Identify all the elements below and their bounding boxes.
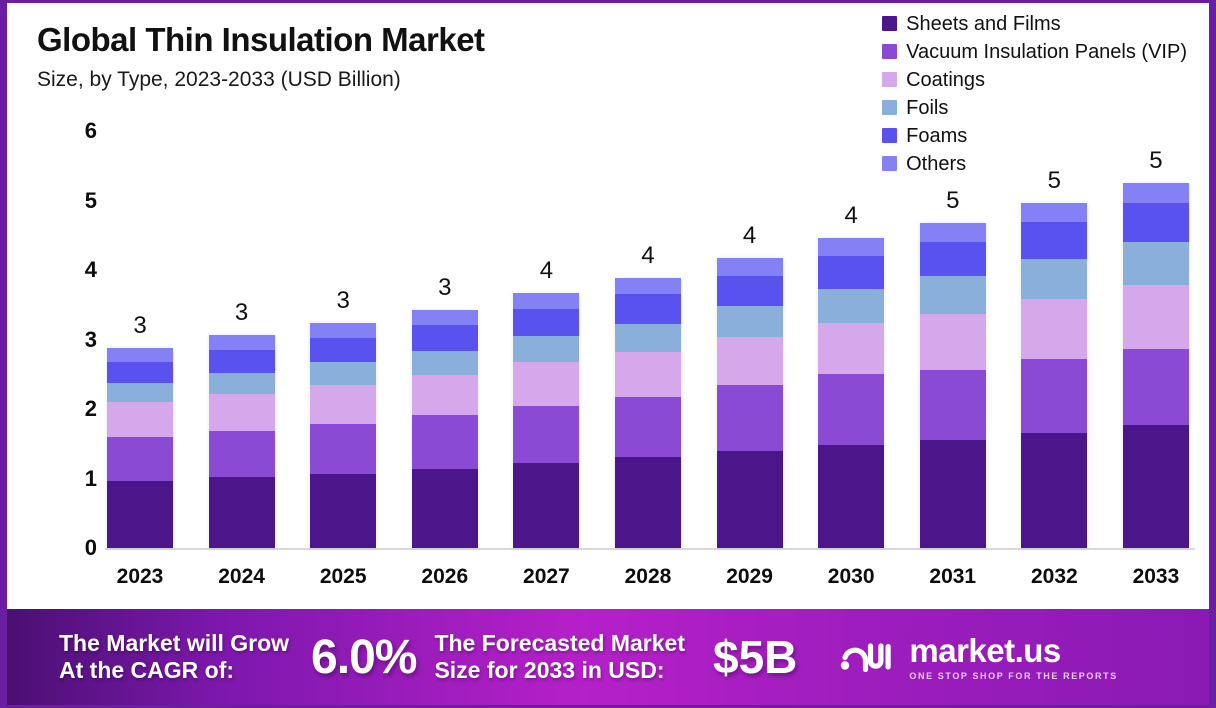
footer-banner: The Market will Grow At the CAGR of: 6.0…: [7, 609, 1209, 705]
bar-segment[interactable]: [1123, 425, 1189, 548]
bar-segment[interactable]: [1123, 349, 1189, 425]
forecast-label-line2: Size for 2033 in USD:: [434, 657, 685, 684]
y-axis-tick-label: 0: [59, 535, 97, 561]
bar-segment[interactable]: [1021, 259, 1087, 299]
bar-segment[interactable]: [513, 362, 579, 405]
bar-value-label: 4: [513, 259, 579, 283]
bar-group[interactable]: 3: [412, 123, 478, 548]
bar-segment[interactable]: [1021, 433, 1087, 548]
cagr-label: The Market will Grow At the CAGR of:: [59, 630, 289, 683]
bar-segment[interactable]: [412, 325, 478, 351]
bar-segment[interactable]: [107, 383, 173, 402]
bar-group[interactable]: 4: [513, 123, 579, 548]
stacked-bar[interactable]: [209, 335, 275, 548]
bar-segment[interactable]: [513, 463, 579, 548]
bar-segment[interactable]: [615, 294, 681, 323]
bar-segment[interactable]: [920, 440, 986, 548]
bar-segment[interactable]: [615, 324, 681, 352]
bar-segment[interactable]: [107, 437, 173, 481]
bar-segment[interactable]: [717, 258, 783, 275]
x-axis-label: 2033: [1123, 565, 1189, 595]
bar-segment[interactable]: [1123, 285, 1189, 348]
bar-segment[interactable]: [412, 310, 478, 325]
stacked-bar[interactable]: [107, 348, 173, 548]
bar-segment[interactable]: [310, 323, 376, 338]
bar-segment[interactable]: [513, 309, 579, 336]
bar-value-label: 3: [209, 301, 275, 325]
x-axis-label: 2027: [513, 565, 579, 595]
x-axis-baseline: [105, 548, 1195, 550]
bar-value-label: 4: [615, 244, 681, 268]
bar-segment[interactable]: [615, 397, 681, 457]
bar-group[interactable]: 5: [1123, 123, 1189, 548]
y-axis-tick-label: 2: [59, 396, 97, 422]
bar-segment[interactable]: [818, 238, 884, 256]
bar-segment[interactable]: [209, 335, 275, 350]
bar-segment[interactable]: [818, 323, 884, 374]
bar-segment[interactable]: [209, 394, 275, 431]
bar-group[interactable]: 4: [717, 123, 783, 548]
bar-value-label: 3: [107, 314, 173, 338]
bar-segment[interactable]: [412, 469, 478, 548]
stacked-bar[interactable]: [1123, 183, 1189, 548]
y-axis-tick-label: 4: [59, 257, 97, 283]
stacked-bar[interactable]: [717, 258, 783, 548]
bar-segment[interactable]: [1123, 242, 1189, 285]
bar-segment[interactable]: [209, 350, 275, 373]
bar-segment[interactable]: [513, 336, 579, 362]
brand-tagline: ONE STOP SHOP FOR THE REPORTS: [909, 671, 1117, 681]
bar-segment[interactable]: [209, 431, 275, 478]
infographic-root: Global Thin Insulation Market Size, by T…: [0, 0, 1216, 708]
brand-text: market.us ONE STOP SHOP FOR THE REPORTS: [909, 634, 1117, 681]
bar-segment[interactable]: [920, 370, 986, 440]
x-axis-label: 2030: [818, 565, 884, 595]
bar-segment[interactable]: [818, 256, 884, 289]
stacked-bar[interactable]: [920, 223, 986, 548]
bar-group[interactable]: 4: [615, 123, 681, 548]
bar-segment[interactable]: [310, 424, 376, 475]
forecast-label: The Forecasted Market Size for 2033 in U…: [434, 630, 685, 683]
bar-value-label: 5: [1123, 149, 1189, 173]
bar-segment[interactable]: [107, 402, 173, 437]
stacked-bar[interactable]: [818, 238, 884, 548]
bar-segment[interactable]: [310, 338, 376, 362]
x-axis-labels: 2023202420252026202720282029203020312032…: [107, 565, 1189, 595]
bar-value-label: 4: [818, 204, 884, 228]
bar-segment[interactable]: [1021, 299, 1087, 359]
bar-segment[interactable]: [920, 314, 986, 370]
bar-segment[interactable]: [107, 362, 173, 383]
bar-segment[interactable]: [107, 481, 173, 548]
stacked-bar[interactable]: [615, 278, 681, 548]
bar-segment[interactable]: [412, 375, 478, 415]
bar-value-label: 5: [920, 189, 986, 213]
bar-segment[interactable]: [209, 373, 275, 394]
x-axis-label: 2031: [920, 565, 986, 595]
y-axis-tick-label: 3: [59, 327, 97, 353]
bar-segment[interactable]: [818, 289, 884, 323]
bar-group[interactable]: 3: [209, 123, 275, 548]
cagr-value: 6.0%: [311, 630, 416, 685]
y-axis-tick-label: 6: [59, 118, 97, 144]
bar-segment[interactable]: [310, 474, 376, 548]
bar-segment[interactable]: [717, 451, 783, 548]
bar-segment[interactable]: [1021, 222, 1087, 259]
x-axis-label: 2026: [412, 565, 478, 595]
bar-segment[interactable]: [717, 306, 783, 337]
bar-segment[interactable]: [818, 374, 884, 445]
y-axis: 0123456: [59, 115, 97, 555]
x-axis-label: 2023: [107, 565, 173, 595]
bar-segment[interactable]: [717, 385, 783, 450]
brand-logo[interactable]: market.us ONE STOP SHOP FOR THE REPORTS: [839, 634, 1117, 681]
stacked-bar[interactable]: [1021, 203, 1087, 548]
bar-value-label: 5: [1021, 169, 1087, 193]
bar-segment[interactable]: [513, 293, 579, 309]
forecast-label-line1: The Forecasted Market: [434, 630, 685, 657]
y-axis-tick-label: 5: [59, 188, 97, 214]
bar-segment[interactable]: [513, 406, 579, 464]
bar-segment[interactable]: [717, 276, 783, 307]
market-us-logo-icon: [839, 638, 897, 677]
bar-segment[interactable]: [412, 415, 478, 469]
bar-value-label: 3: [310, 289, 376, 313]
bar-value-label: 4: [717, 224, 783, 248]
x-axis-label: 2029: [717, 565, 783, 595]
forecast-value: $5B: [713, 630, 797, 684]
bar-segment[interactable]: [920, 242, 986, 277]
x-axis-label: 2028: [615, 565, 681, 595]
bar-segment[interactable]: [412, 351, 478, 375]
bar-segment[interactable]: [107, 348, 173, 362]
x-axis-label: 2032: [1021, 565, 1087, 595]
bar-group[interactable]: 4: [818, 123, 884, 548]
bar-segment[interactable]: [1123, 203, 1189, 242]
bar-value-label: 3: [412, 276, 478, 300]
bar-group[interactable]: 5: [1021, 123, 1087, 548]
bar-segment[interactable]: [615, 457, 681, 548]
stacked-bar[interactable]: [310, 323, 376, 548]
bar-segment[interactable]: [1021, 203, 1087, 222]
bar-group[interactable]: 5: [920, 123, 986, 548]
y-axis-tick-label: 1: [59, 466, 97, 492]
bar-segment[interactable]: [717, 337, 783, 385]
brand-name: market.us: [909, 634, 1117, 667]
cagr-label-line2: At the CAGR of:: [59, 657, 289, 684]
bar-series-container: 33334444555: [107, 123, 1189, 548]
bar-segment[interactable]: [818, 445, 884, 548]
x-axis-label: 2024: [209, 565, 275, 595]
bar-group[interactable]: 3: [107, 123, 173, 548]
bar-segment[interactable]: [615, 352, 681, 397]
bar-segment[interactable]: [920, 276, 986, 314]
bar-segment[interactable]: [1021, 359, 1087, 433]
bar-segment[interactable]: [310, 362, 376, 385]
bar-segment[interactable]: [920, 223, 986, 242]
stacked-bar[interactable]: [513, 293, 579, 548]
stacked-bar[interactable]: [412, 310, 478, 548]
bar-segment[interactable]: [209, 477, 275, 548]
bar-group[interactable]: 3: [310, 123, 376, 548]
x-axis-label: 2025: [310, 565, 376, 595]
cagr-label-line1: The Market will Grow: [59, 630, 289, 657]
bar-segment[interactable]: [615, 278, 681, 295]
bar-segment[interactable]: [1123, 183, 1189, 203]
chart-plot-area: 0123456 33334444555 20232024202520262027…: [7, 3, 1209, 603]
bar-segment[interactable]: [310, 385, 376, 423]
